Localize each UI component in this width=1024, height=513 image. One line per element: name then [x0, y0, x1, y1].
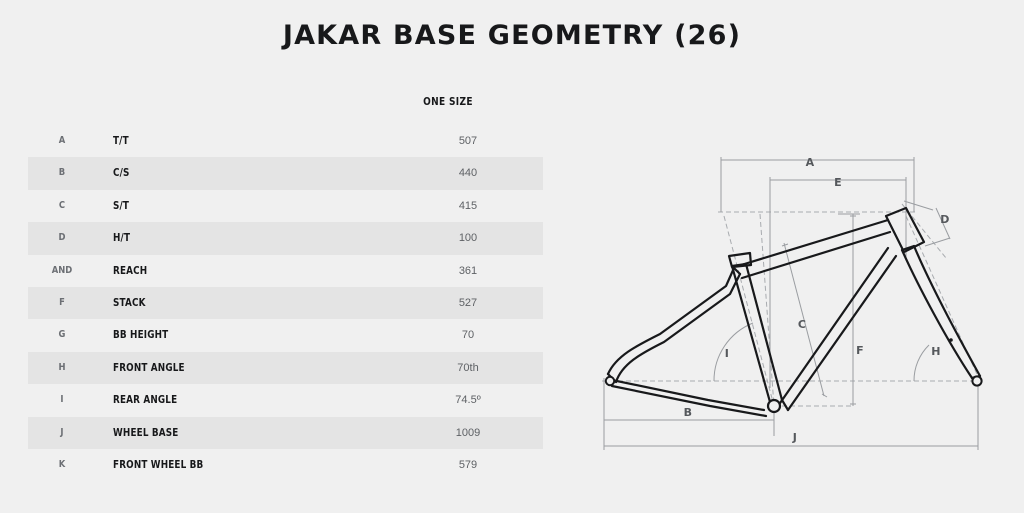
row-key: I [33, 384, 90, 416]
row-label: C/S [113, 157, 130, 189]
table-row: C S/T 415 [28, 190, 543, 222]
dim-label-f: F [856, 344, 864, 357]
dim-label-i: I [725, 347, 729, 360]
page-title: JAKAR BASE GEOMETRY (26) [0, 20, 1024, 51]
row-key: F [33, 287, 90, 319]
geometry-table: ONE SIZE A T/T 507 B C/S 440 C S/T 415 D… [28, 95, 543, 481]
row-key: B [33, 157, 90, 189]
dim-label-c: C [798, 318, 806, 331]
dim-label-h: H [931, 345, 941, 358]
dim-label-d: D [940, 213, 949, 226]
row-value: 440 [408, 157, 528, 189]
row-key: G [33, 319, 90, 351]
row-label: FRONT WHEEL BB [113, 449, 203, 481]
angle-arcs [714, 323, 929, 381]
row-value: 70th [408, 352, 528, 384]
row-key: D [33, 222, 90, 254]
row-value: 579 [408, 449, 528, 481]
row-key: C [33, 190, 90, 222]
dim-label-b: B [684, 406, 693, 419]
table-row: G BB HEIGHT 70 [28, 319, 543, 351]
row-label: WHEEL BASE [113, 417, 178, 449]
row-label: T/T [113, 125, 129, 157]
row-value: 527 [408, 287, 528, 319]
table-row: J WHEEL BASE 1009 [28, 417, 543, 449]
dim-label-a: A [806, 156, 815, 169]
table-header-row: ONE SIZE [28, 95, 543, 125]
frame-outline [608, 208, 980, 416]
table-row: K FRONT WHEEL BB 579 [28, 449, 543, 481]
row-label: STACK [113, 287, 146, 319]
dim-label-e: E [834, 176, 842, 189]
bicycle-frame-geometry-diagram: A E D C F I H B J [588, 138, 1012, 468]
dim-label-j: J [792, 431, 797, 444]
row-key: H [33, 352, 90, 384]
table-row: B C/S 440 [28, 157, 543, 189]
construction-lines [602, 204, 980, 406]
table-row: A T/T 507 [28, 125, 543, 157]
row-label: REACH [113, 255, 147, 287]
row-label: BB HEIGHT [113, 319, 168, 351]
row-key: J [33, 417, 90, 449]
row-value: 507 [408, 125, 528, 157]
row-value: 361 [408, 255, 528, 287]
table-row: H FRONT ANGLE 70th [28, 352, 543, 384]
table-row: F STACK 527 [28, 287, 543, 319]
table-row: AND REACH 361 [28, 255, 543, 287]
row-label: FRONT ANGLE [113, 352, 185, 384]
row-label: REAR ANGLE [113, 384, 177, 416]
row-value: 1009 [408, 417, 528, 449]
row-value: 415 [408, 190, 528, 222]
row-key: K [33, 449, 90, 481]
row-value: 100 [408, 222, 528, 254]
row-label: S/T [113, 190, 129, 222]
table-row: D H/T 100 [28, 222, 543, 254]
row-label: H/T [113, 222, 130, 254]
row-key: AND [33, 255, 90, 287]
row-value: 74.5º [408, 384, 528, 416]
table-row: I REAR ANGLE 74.5º [28, 384, 543, 416]
row-key: A [33, 125, 90, 157]
column-header-one-size: ONE SIZE [399, 95, 497, 108]
row-value: 70 [408, 319, 528, 351]
